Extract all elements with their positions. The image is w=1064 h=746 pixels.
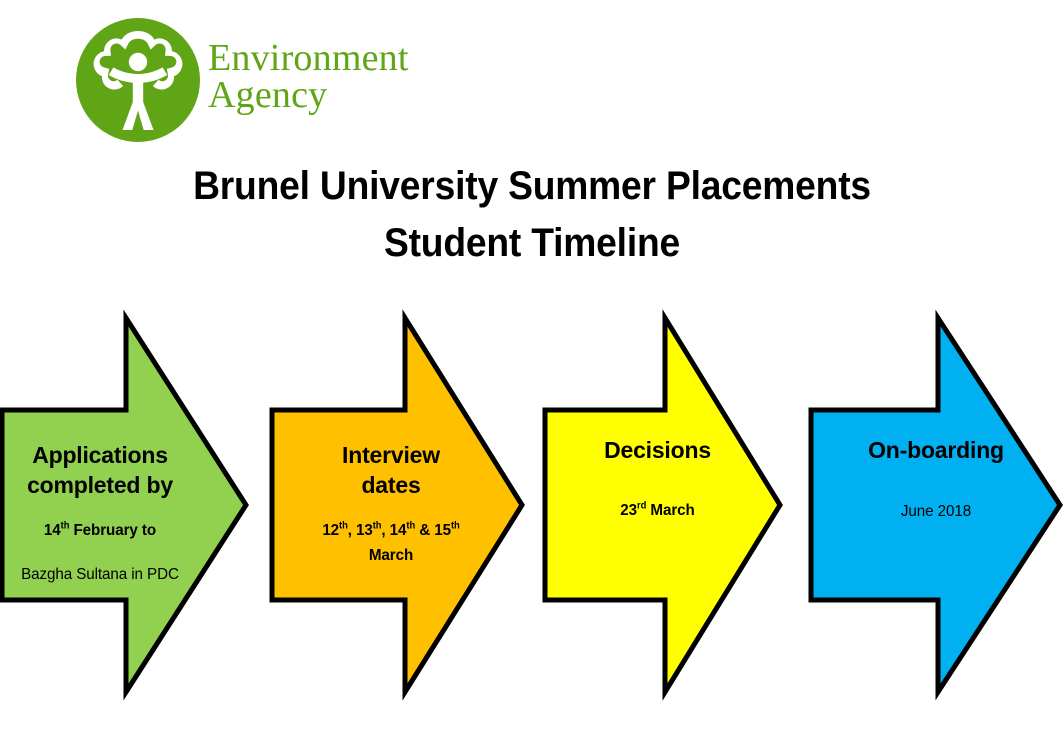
timeline-step-applications-text: Applications completed by 14th February …	[0, 440, 200, 587]
step-decisions-detail-date: 23rd March	[551, 499, 765, 524]
spacer	[272, 501, 510, 519]
timeline-infographic-page: Environment Agency Brunel University Sum…	[0, 0, 1064, 746]
timeline-step-interviews-text: Interview dates 12th, 13th, 14th & 15th …	[272, 440, 510, 568]
step-onboarding-heading: On-boarding	[811, 435, 1061, 465]
spacer	[0, 501, 200, 519]
environment-agency-tree-icon	[76, 18, 200, 142]
logo-word-environment: Environment	[208, 40, 409, 77]
spacer	[0, 544, 200, 562]
page-title-line-1: Brunel University Summer Placements	[37, 158, 1027, 215]
timeline-arrows: Applications completed by 14th February …	[0, 300, 1064, 710]
page-title: Brunel University Summer Placements Stud…	[0, 158, 1064, 272]
step-applications-heading: Applications completed by	[0, 440, 200, 501]
step-decisions-heading: Decisions	[545, 435, 770, 465]
spacer	[811, 465, 1061, 499]
step-applications-detail-contact: Bazgha Sultana in PDC	[5, 562, 195, 588]
step-applications-detail-date: 14th February to	[5, 519, 195, 544]
step-onboarding-detail-date: June 2018	[817, 499, 1055, 525]
environment-agency-logo: Environment Agency	[76, 18, 376, 144]
step-interviews-detail-dates: 12th, 13th, 14th & 15th	[278, 519, 504, 544]
page-title-line-2: Student Timeline	[37, 215, 1027, 272]
step-interviews-detail-month: March	[278, 544, 504, 569]
logo-word-agency: Agency	[208, 77, 409, 114]
step-interviews-heading: Interview dates	[272, 440, 510, 501]
environment-agency-wordmark: Environment Agency	[208, 40, 409, 114]
timeline-step-onboarding-text: On-boarding June 2018	[811, 435, 1061, 525]
timeline-step-decisions-text: Decisions 23rd March	[545, 435, 770, 524]
spacer	[545, 465, 770, 499]
